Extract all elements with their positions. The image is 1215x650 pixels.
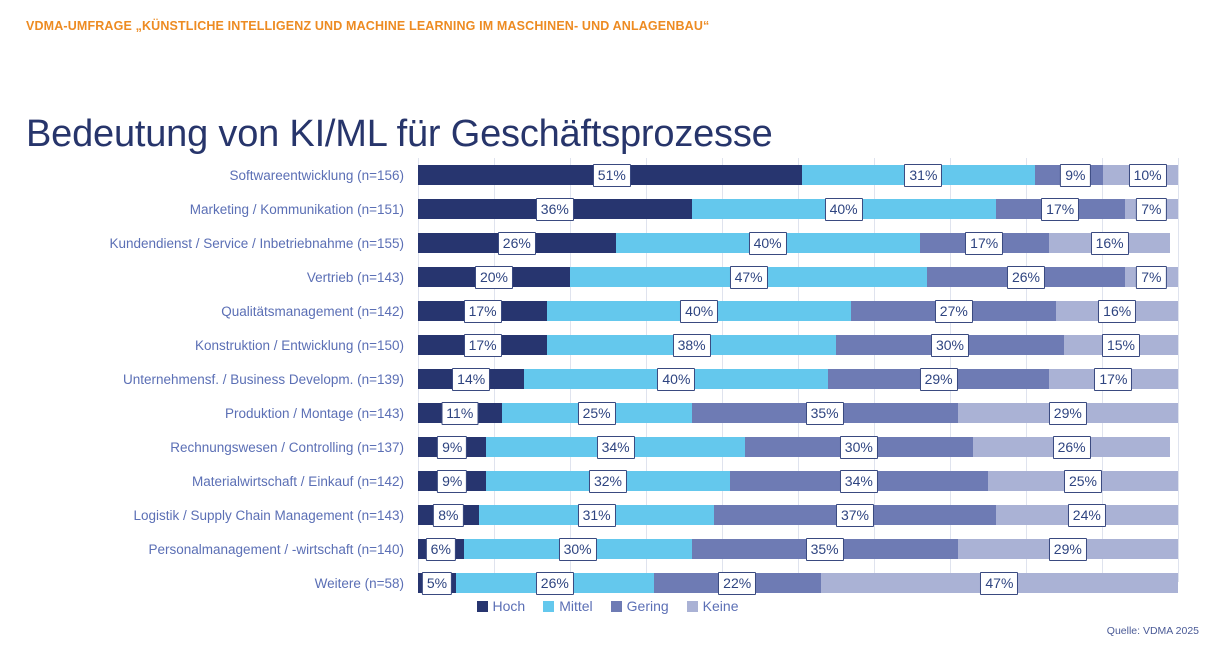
survey-eyebrow-heading: VDMA-UMFRAGE „KÜNSTLICHE INTELLIGENZ UND… bbox=[26, 19, 709, 33]
stacked-bar bbox=[418, 573, 1178, 593]
data-label-hoch: 8% bbox=[433, 504, 463, 527]
data-label-keine: 25% bbox=[1064, 470, 1102, 493]
category-label: Softwareentwicklung (n=156) bbox=[230, 158, 404, 192]
category-label: Vertrieb (n=143) bbox=[307, 260, 404, 294]
stacked-bar bbox=[418, 301, 1178, 321]
category-label: Marketing / Kommunikation (n=151) bbox=[190, 192, 404, 226]
data-label-keine: 16% bbox=[1091, 232, 1129, 255]
data-label-keine: 17% bbox=[1094, 368, 1132, 391]
data-label-keine: 15% bbox=[1102, 334, 1140, 357]
category-label: Personalmanagement / -wirtschaft (n=140) bbox=[149, 532, 405, 566]
legend-swatch-icon bbox=[477, 601, 488, 612]
bar-row[interactable]: 8%31%37%24% bbox=[418, 498, 1178, 532]
data-label-mittel: 47% bbox=[730, 266, 768, 289]
data-label-hoch: 14% bbox=[452, 368, 490, 391]
legend-item[interactable]: Gering bbox=[611, 598, 669, 614]
gridline-100 bbox=[1178, 158, 1179, 582]
data-label-gering: 37% bbox=[836, 504, 874, 527]
data-label-gering: 17% bbox=[1041, 198, 1079, 221]
stacked-bar-chart: Softwareentwicklung (n=156)Marketing / K… bbox=[0, 158, 1215, 598]
stacked-bar bbox=[418, 267, 1178, 287]
category-label: Qualitätsmanagement (n=142) bbox=[221, 294, 404, 328]
legend-item[interactable]: Mittel bbox=[543, 598, 592, 614]
data-label-mittel: 25% bbox=[578, 402, 616, 425]
data-label-keine: 24% bbox=[1068, 504, 1106, 527]
data-label-mittel: 38% bbox=[673, 334, 711, 357]
data-label-hoch: 20% bbox=[475, 266, 513, 289]
bar-row[interactable]: 11%25%35%29% bbox=[418, 396, 1178, 430]
data-label-gering: 22% bbox=[718, 572, 756, 595]
data-label-keine: 47% bbox=[980, 572, 1018, 595]
legend-swatch-icon bbox=[687, 601, 698, 612]
bar-row[interactable]: 9%34%30%26% bbox=[418, 430, 1178, 464]
legend-label: Keine bbox=[703, 598, 739, 614]
category-label: Materialwirtschaft / Einkauf (n=142) bbox=[192, 464, 404, 498]
legend-label: Gering bbox=[627, 598, 669, 614]
data-label-hoch: 51% bbox=[593, 164, 631, 187]
data-label-hoch: 26% bbox=[498, 232, 536, 255]
category-label: Rechnungswesen / Controlling (n=137) bbox=[170, 430, 404, 464]
bar-row[interactable]: 9%32%34%25% bbox=[418, 464, 1178, 498]
data-label-gering: 34% bbox=[840, 470, 878, 493]
data-label-gering: 35% bbox=[806, 538, 844, 561]
legend-item[interactable]: Hoch bbox=[477, 598, 526, 614]
data-label-keine: 29% bbox=[1049, 538, 1087, 561]
category-axis-labels: Softwareentwicklung (n=156)Marketing / K… bbox=[0, 158, 412, 582]
data-label-mittel: 34% bbox=[597, 436, 635, 459]
data-label-hoch: 17% bbox=[464, 334, 502, 357]
bar-row[interactable]: 36%40%17%7% bbox=[418, 192, 1178, 226]
legend-swatch-icon bbox=[543, 601, 554, 612]
data-label-gering: 26% bbox=[1007, 266, 1045, 289]
data-label-keine: 10% bbox=[1129, 164, 1167, 187]
data-label-mittel: 30% bbox=[559, 538, 597, 561]
data-label-gering: 17% bbox=[965, 232, 1003, 255]
category-label: Weitere (n=58) bbox=[315, 566, 404, 600]
data-label-hoch: 5% bbox=[422, 572, 452, 595]
stacked-bar bbox=[418, 505, 1178, 525]
bar-row[interactable]: 6%30%35%29% bbox=[418, 532, 1178, 566]
category-label: Logistik / Supply Chain Management (n=14… bbox=[133, 498, 404, 532]
legend-item[interactable]: Keine bbox=[687, 598, 739, 614]
data-label-hoch: 6% bbox=[426, 538, 456, 561]
category-label: Kundendienst / Service / Inbetriebnahme … bbox=[109, 226, 404, 260]
data-label-hoch: 9% bbox=[437, 436, 467, 459]
data-label-mittel: 31% bbox=[904, 164, 942, 187]
data-label-mittel: 40% bbox=[680, 300, 718, 323]
page-title: Bedeutung von KI/ML für Geschäftsprozess… bbox=[26, 113, 773, 156]
data-label-mittel: 40% bbox=[749, 232, 787, 255]
data-label-keine: 16% bbox=[1098, 300, 1136, 323]
data-label-hoch: 17% bbox=[464, 300, 502, 323]
bar-row[interactable]: 51%31%9%10% bbox=[418, 158, 1178, 192]
data-label-mittel: 26% bbox=[536, 572, 574, 595]
data-label-mittel: 40% bbox=[825, 198, 863, 221]
bar-row[interactable]: 20%47%26%7% bbox=[418, 260, 1178, 294]
data-label-gering: 35% bbox=[806, 402, 844, 425]
category-label: Produktion / Montage (n=143) bbox=[225, 396, 404, 430]
bar-row[interactable]: 26%40%17%16% bbox=[418, 226, 1178, 260]
category-label: Unternehmensf. / Business Developm. (n=1… bbox=[123, 362, 404, 396]
data-label-gering: 30% bbox=[840, 436, 878, 459]
stacked-bar bbox=[418, 335, 1178, 355]
data-label-mittel: 31% bbox=[578, 504, 616, 527]
legend-label: Mittel bbox=[559, 598, 592, 614]
data-label-mittel: 32% bbox=[589, 470, 627, 493]
data-label-hoch: 11% bbox=[441, 402, 478, 425]
data-label-keine: 29% bbox=[1049, 402, 1087, 425]
legend-label: Hoch bbox=[493, 598, 526, 614]
data-label-hoch: 9% bbox=[437, 470, 467, 493]
bar-row[interactable]: 14%40%29%17% bbox=[418, 362, 1178, 396]
plot-area: 51%31%9%10%36%40%17%7%26%40%17%16%20%47%… bbox=[418, 158, 1178, 582]
stacked-bar bbox=[418, 369, 1178, 389]
bar-row[interactable]: 17%38%30%15% bbox=[418, 328, 1178, 362]
data-label-mittel: 40% bbox=[657, 368, 695, 391]
data-label-hoch: 36% bbox=[536, 198, 574, 221]
legend-swatch-icon bbox=[611, 601, 622, 612]
data-label-gering: 27% bbox=[935, 300, 973, 323]
data-label-gering: 29% bbox=[920, 368, 958, 391]
data-label-keine: 7% bbox=[1136, 266, 1166, 289]
bar-row[interactable]: 17%40%27%16% bbox=[418, 294, 1178, 328]
data-label-gering: 9% bbox=[1060, 164, 1090, 187]
data-label-keine: 7% bbox=[1136, 198, 1166, 221]
data-label-gering: 30% bbox=[931, 334, 969, 357]
bar-row[interactable]: 5%26%22%47% bbox=[418, 566, 1178, 600]
source-note: Quelle: VDMA 2025 bbox=[1107, 625, 1199, 637]
chart-legend: HochMittelGeringKeine bbox=[0, 598, 1215, 614]
data-label-keine: 26% bbox=[1053, 436, 1091, 459]
category-label: Konstruktion / Entwicklung (n=150) bbox=[195, 328, 404, 362]
